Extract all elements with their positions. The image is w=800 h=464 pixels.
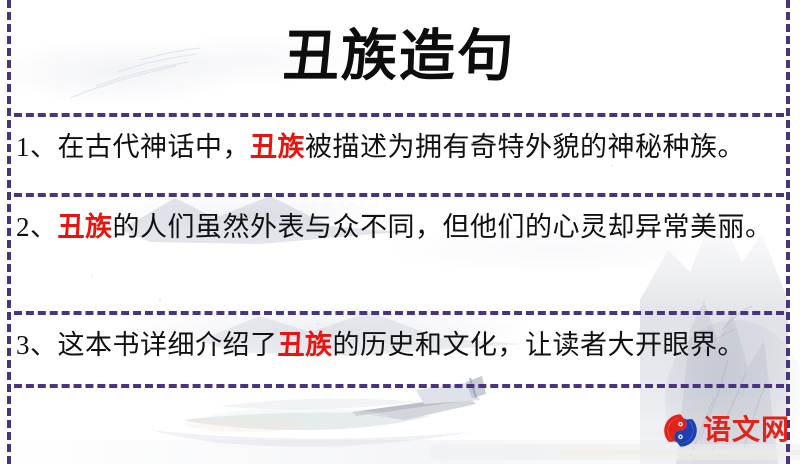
divider-title-bottom	[14, 113, 784, 117]
keyword-highlight: 丑族	[278, 330, 333, 360]
divider-sentence-2-bottom	[14, 311, 784, 315]
keyword-highlight: 丑族	[250, 132, 305, 162]
sentence-1-part-1: 在古代神话中，	[58, 132, 251, 162]
divider-sentence-1-bottom	[14, 193, 784, 197]
title-band: 丑族造句	[14, 0, 784, 113]
keyword-highlight: 丑族	[58, 212, 113, 242]
sentence-3-part-1: 这本书详细介绍了	[58, 330, 278, 360]
sentence-index-3: 3、	[16, 330, 58, 360]
site-logo[interactable]: 语文网	[663, 413, 790, 448]
sentence-index-1: 1、	[16, 132, 58, 162]
sentence-index-2: 2、	[16, 212, 58, 242]
divider-sentence-3-bottom	[14, 384, 784, 388]
sentence-1-part-3: 被描述为拥有奇特外貌的神秘种族。	[305, 132, 745, 162]
sentence-3-part-3: 的历史和文化，让读者大开眼界。	[333, 330, 746, 360]
frame-border-right	[786, 0, 790, 464]
logo-text: 语文网	[703, 417, 790, 445]
sentence-item-3: 3、这本书详细介绍了丑族的历史和文化，让读者大开眼界。	[16, 322, 778, 369]
frame-border-left	[7, 0, 11, 464]
yinyang-circle-icon	[663, 413, 698, 448]
worksheet-page: 丑族造句 1、在古代神话中，丑族被描述为拥有奇特外貌的神秘种族。 2、丑族的人们…	[0, 0, 800, 464]
sentence-item-1: 1、在古代神话中，丑族被描述为拥有奇特外貌的神秘种族。	[16, 124, 778, 171]
page-title: 丑族造句	[282, 29, 516, 85]
sentence-2-part-2: 的人们虽然外表与众不同，但他们的心灵却异常美丽。	[113, 212, 773, 242]
sentence-item-2: 2、丑族的人们虽然外表与众不同，但他们的心灵却异常美丽。	[16, 204, 778, 251]
